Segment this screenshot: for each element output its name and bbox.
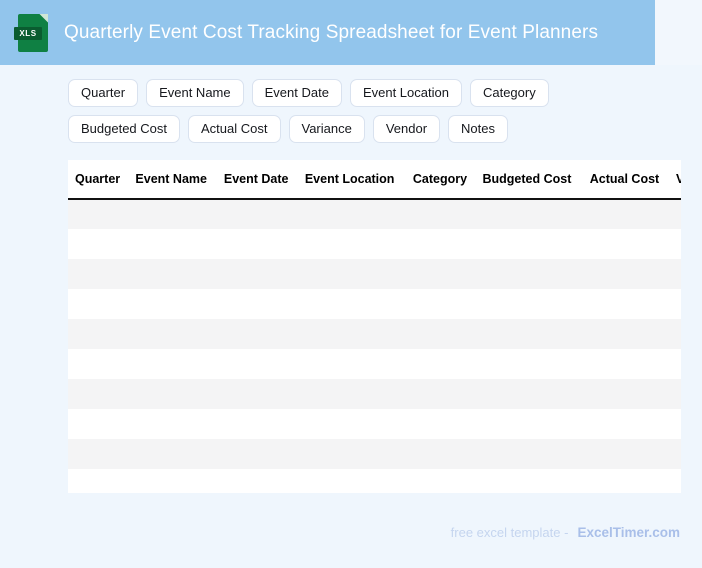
chip-notes[interactable]: Notes	[448, 115, 508, 143]
table-cell[interactable]	[135, 319, 223, 349]
table-cell[interactable]	[482, 469, 589, 493]
table-cell[interactable]	[135, 349, 223, 379]
table-cell[interactable]	[590, 409, 676, 439]
spreadsheet-table-container[interactable]: Quarter Event Name Event Date Event Loca…	[68, 160, 681, 493]
table-cell[interactable]	[305, 229, 413, 259]
table-cell[interactable]	[68, 289, 135, 319]
table-cell[interactable]	[135, 469, 223, 493]
table-row[interactable]	[68, 409, 681, 439]
table-cell[interactable]	[676, 439, 681, 469]
table-cell[interactable]	[676, 409, 681, 439]
chip-event-name[interactable]: Event Name	[146, 79, 244, 107]
chip-budgeted-cost[interactable]: Budgeted Cost	[68, 115, 180, 143]
table-cell[interactable]	[305, 439, 413, 469]
page-root: XLS Quarterly Event Cost Tracking Spread…	[0, 0, 702, 568]
table-body	[68, 199, 681, 493]
footer: free excel template - ExcelTimer.com	[451, 525, 680, 540]
header-right-gap	[655, 0, 702, 65]
table-cell[interactable]	[305, 409, 413, 439]
table-cell[interactable]	[676, 319, 681, 349]
column-header-quarter[interactable]: Quarter	[68, 160, 135, 199]
table-cell[interactable]	[590, 289, 676, 319]
table-cell[interactable]	[68, 229, 135, 259]
chip-quarter[interactable]: Quarter	[68, 79, 138, 107]
table-cell[interactable]	[413, 379, 483, 409]
table-cell[interactable]	[676, 259, 681, 289]
table-cell[interactable]	[68, 259, 135, 289]
column-header-event-name[interactable]: Event Name	[135, 160, 223, 199]
table-cell[interactable]	[224, 409, 305, 439]
table-row[interactable]	[68, 229, 681, 259]
table-cell[interactable]	[590, 199, 676, 229]
table-cell[interactable]	[135, 199, 223, 229]
table-cell[interactable]	[135, 229, 223, 259]
table-cell[interactable]	[224, 349, 305, 379]
table-cell[interactable]	[482, 349, 589, 379]
table-cell[interactable]	[135, 379, 223, 409]
column-header-budgeted-cost[interactable]: Budgeted Cost	[482, 160, 589, 199]
table-cell[interactable]	[305, 199, 413, 229]
table-cell[interactable]	[482, 199, 589, 229]
table-cell[interactable]	[68, 349, 135, 379]
table-row[interactable]	[68, 319, 681, 349]
table-cell[interactable]	[224, 199, 305, 229]
column-header-category[interactable]: Category	[413, 160, 483, 199]
table-cell[interactable]	[590, 259, 676, 289]
table-row[interactable]	[68, 289, 681, 319]
table-cell[interactable]	[224, 469, 305, 493]
column-header-event-location[interactable]: Event Location	[305, 160, 413, 199]
column-chip-area: Quarter Event Name Event Date Event Loca…	[68, 79, 688, 143]
chip-event-date[interactable]: Event Date	[252, 79, 342, 107]
table-cell[interactable]	[590, 349, 676, 379]
table-cell[interactable]	[68, 469, 135, 493]
chip-variance[interactable]: Variance	[289, 115, 365, 143]
table-row[interactable]	[68, 259, 681, 289]
table-cell[interactable]	[135, 289, 223, 319]
table-cell[interactable]	[590, 229, 676, 259]
table-header: Quarter Event Name Event Date Event Loca…	[68, 160, 681, 199]
spreadsheet-table: Quarter Event Name Event Date Event Loca…	[68, 160, 681, 493]
table-header-row: Quarter Event Name Event Date Event Loca…	[68, 160, 681, 199]
chip-event-location[interactable]: Event Location	[350, 79, 462, 107]
chip-actual-cost[interactable]: Actual Cost	[188, 115, 280, 143]
table-row[interactable]	[68, 469, 681, 493]
table-cell[interactable]	[676, 229, 681, 259]
table-cell[interactable]	[482, 259, 589, 289]
table-cell[interactable]	[305, 319, 413, 349]
table-cell[interactable]	[413, 199, 483, 229]
table-cell[interactable]	[68, 199, 135, 229]
table-cell[interactable]	[135, 259, 223, 289]
table-cell[interactable]	[482, 409, 589, 439]
table-cell[interactable]	[413, 349, 483, 379]
table-row[interactable]	[68, 199, 681, 229]
table-cell[interactable]	[413, 439, 483, 469]
table-cell[interactable]	[68, 439, 135, 469]
table-row[interactable]	[68, 439, 681, 469]
table-cell[interactable]	[135, 409, 223, 439]
table-cell[interactable]	[676, 199, 681, 229]
table-cell[interactable]	[413, 319, 483, 349]
table-row[interactable]	[68, 349, 681, 379]
footer-brand-link[interactable]: ExcelTimer.com	[577, 525, 680, 540]
table-cell[interactable]	[676, 469, 681, 493]
table-cell[interactable]	[676, 349, 681, 379]
table-cell[interactable]	[224, 319, 305, 349]
table-cell[interactable]	[590, 439, 676, 469]
table-cell[interactable]	[305, 349, 413, 379]
table-cell[interactable]	[590, 379, 676, 409]
table-cell[interactable]	[413, 289, 483, 319]
table-cell[interactable]	[224, 289, 305, 319]
table-cell[interactable]	[413, 409, 483, 439]
table-cell[interactable]	[224, 229, 305, 259]
column-header-event-date[interactable]: Event Date	[224, 160, 305, 199]
column-header-actual-cost[interactable]: Actual Cost	[590, 160, 676, 199]
table-cell[interactable]	[305, 379, 413, 409]
table-cell[interactable]	[135, 439, 223, 469]
table-cell[interactable]	[482, 229, 589, 259]
table-cell[interactable]	[482, 379, 589, 409]
table-cell[interactable]	[413, 259, 483, 289]
table-cell[interactable]	[590, 469, 676, 493]
column-chip-list: Quarter Event Name Event Date Event Loca…	[68, 79, 638, 143]
table-cell[interactable]	[305, 259, 413, 289]
table-cell[interactable]	[68, 409, 135, 439]
page-header: XLS Quarterly Event Cost Tracking Spread…	[0, 0, 655, 65]
table-cell[interactable]	[676, 379, 681, 409]
table-cell[interactable]	[413, 469, 483, 493]
table-cell[interactable]	[305, 469, 413, 493]
xls-file-icon: XLS	[18, 14, 48, 52]
table-cell[interactable]	[590, 319, 676, 349]
column-header-variance[interactable]: Variance	[676, 160, 681, 199]
table-cell[interactable]	[224, 379, 305, 409]
table-cell[interactable]	[482, 319, 589, 349]
table-cell[interactable]	[68, 319, 135, 349]
table-cell[interactable]	[68, 379, 135, 409]
chip-vendor[interactable]: Vendor	[373, 115, 440, 143]
table-cell[interactable]	[482, 289, 589, 319]
table-cell[interactable]	[305, 289, 413, 319]
table-row[interactable]	[68, 379, 681, 409]
table-cell[interactable]	[482, 439, 589, 469]
table-cell[interactable]	[224, 439, 305, 469]
table-cell[interactable]	[224, 259, 305, 289]
xls-file-icon-badge: XLS	[14, 27, 42, 40]
table-cell[interactable]	[413, 229, 483, 259]
chip-category[interactable]: Category	[470, 79, 549, 107]
table-cell[interactable]	[676, 289, 681, 319]
footer-text: free excel template -	[451, 525, 569, 540]
page-title: Quarterly Event Cost Tracking Spreadshee…	[64, 22, 598, 44]
